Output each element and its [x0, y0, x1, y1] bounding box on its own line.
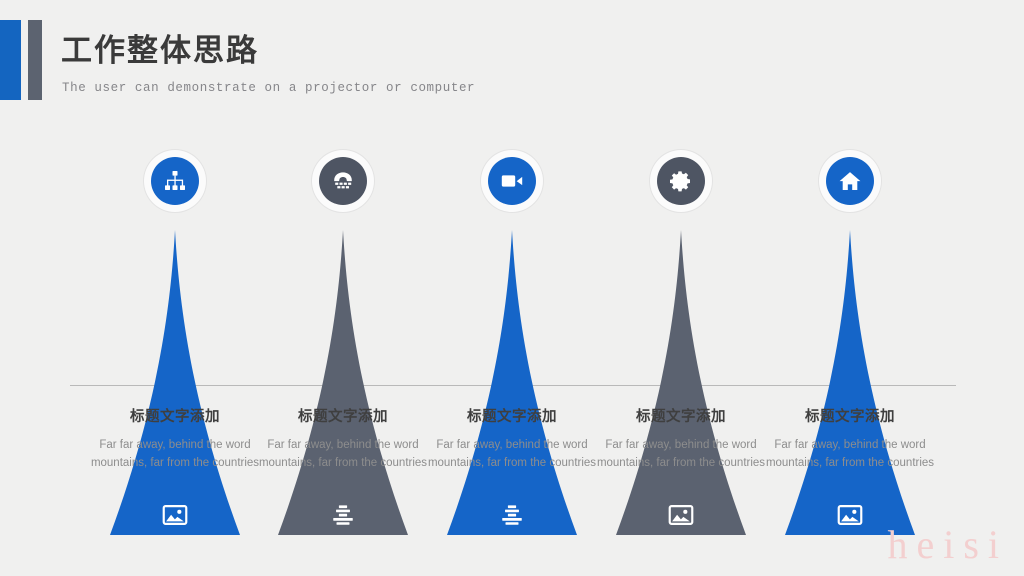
gear-icon	[657, 157, 705, 205]
pillar-cone-1	[110, 230, 240, 536]
pillar-cone-5	[785, 230, 915, 536]
stack-icon	[330, 502, 356, 528]
pillar-desc-2: Far far away, behind the word mountains,…	[258, 436, 428, 472]
pillar-badge-2[interactable]	[312, 150, 374, 212]
watermark: heisi	[887, 521, 1008, 568]
pillar-badge-4[interactable]	[650, 150, 712, 212]
sitemap-icon	[151, 157, 199, 205]
home-icon	[826, 157, 874, 205]
pillar-desc-1: Far far away, behind the word mountains,…	[90, 436, 260, 472]
image-icon	[837, 502, 863, 528]
pillar-badge-1[interactable]	[144, 150, 206, 212]
pillar-title-4: 标题文字添加	[596, 405, 766, 426]
pillar-badge-3[interactable]	[481, 150, 543, 212]
video-camera-icon	[488, 157, 536, 205]
pillar-column-5[interactable]: 标题文字添加Far far away, behind the word moun…	[765, 150, 935, 510]
diagram-stage: 标题文字添加Far far away, behind the word moun…	[0, 0, 1024, 576]
pillar-column-2[interactable]: 标题文字添加Far far away, behind the word moun…	[258, 150, 428, 510]
telephone-icon	[319, 157, 367, 205]
pillar-cone-4	[616, 230, 746, 536]
pillar-badge-5[interactable]	[819, 150, 881, 212]
pillar-column-1[interactable]: 标题文字添加Far far away, behind the word moun…	[90, 150, 260, 510]
pillar-title-5: 标题文字添加	[765, 405, 935, 426]
pillar-cone-2	[278, 230, 408, 536]
pillar-title-2: 标题文字添加	[258, 405, 428, 426]
pillar-title-3: 标题文字添加	[427, 405, 597, 426]
pillar-column-4[interactable]: 标题文字添加Far far away, behind the word moun…	[596, 150, 766, 510]
image-icon	[668, 502, 694, 528]
pillar-cone-3	[447, 230, 577, 536]
stack-icon	[499, 502, 525, 528]
pillar-desc-5: Far far away, behind the word mountains,…	[765, 436, 935, 472]
pillar-title-1: 标题文字添加	[90, 405, 260, 426]
pillar-desc-4: Far far away, behind the word mountains,…	[596, 436, 766, 472]
image-icon	[162, 502, 188, 528]
pillar-desc-3: Far far away, behind the word mountains,…	[427, 436, 597, 472]
pillar-column-3[interactable]: 标题文字添加Far far away, behind the word moun…	[427, 150, 597, 510]
